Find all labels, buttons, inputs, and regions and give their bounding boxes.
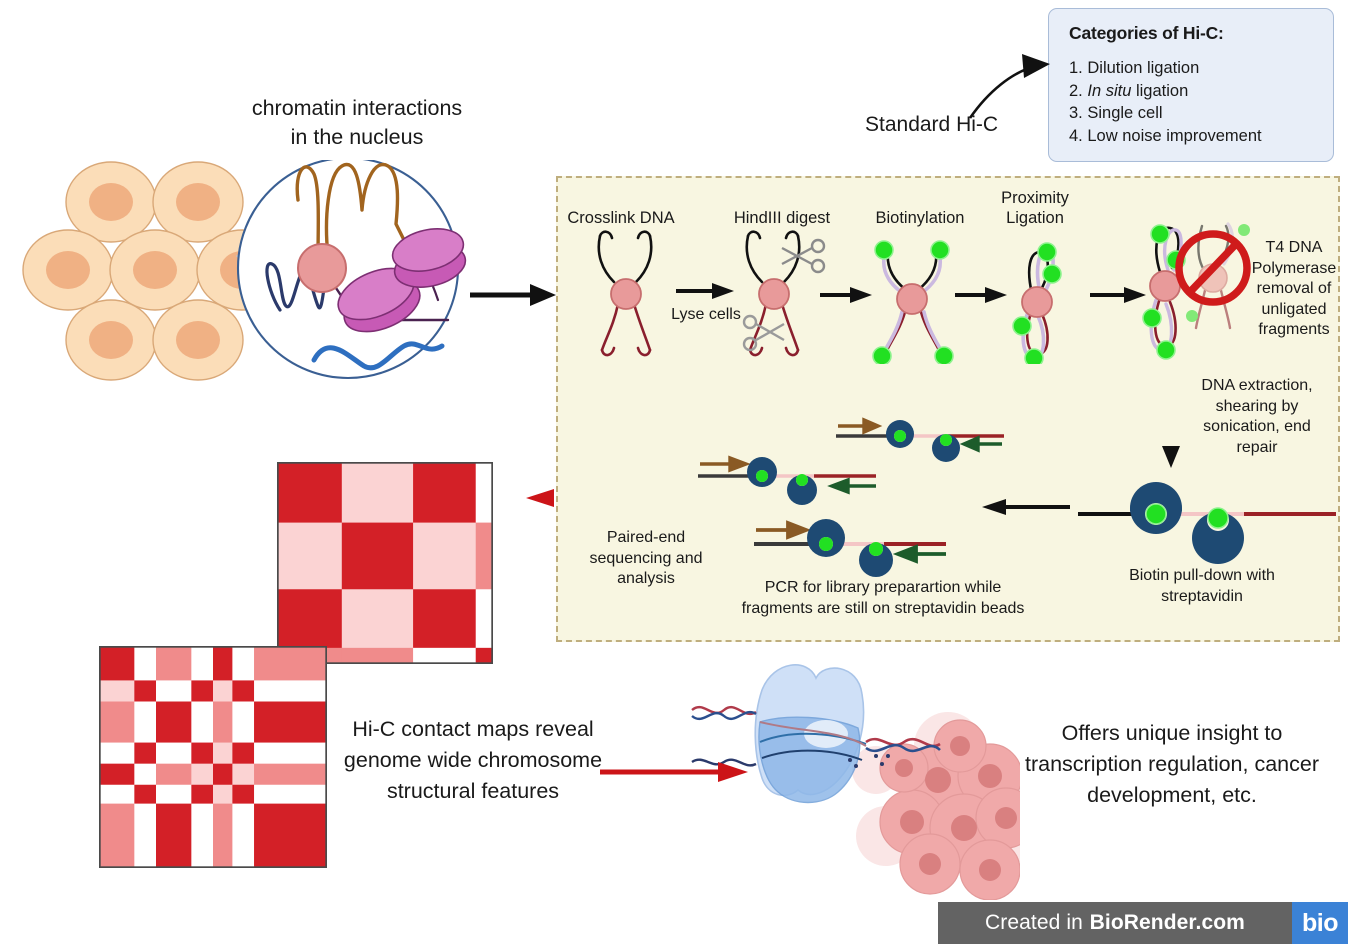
structure-proximity-ligation [1000, 228, 1072, 364]
arrow-lyse-cells [676, 280, 736, 302]
heatmap-cell [342, 462, 414, 523]
heatmap-cell [232, 804, 254, 868]
heatmap-cell [232, 764, 254, 786]
structure-crosslink-dna [588, 228, 674, 360]
heatmap-cell [99, 804, 135, 868]
step-label-biotinylation: Biotinylation [852, 208, 988, 228]
biorender-watermark: Created in BioRender.com bio [938, 902, 1348, 944]
heatmap-cell [232, 680, 254, 702]
biorender-logo: bio [1292, 902, 1348, 944]
heatmap-cell [191, 702, 213, 744]
heatmap-cell [191, 743, 213, 765]
heatmap-cell [213, 702, 233, 744]
structure-biotinylation [866, 228, 966, 364]
heatmap-cell [277, 589, 342, 648]
heatmap-cell [134, 680, 156, 702]
heatmap-cell [476, 462, 493, 523]
heatmap-cell [254, 702, 327, 744]
step-label-hindiii: HindIII digest [712, 208, 852, 228]
cells-and-nucleus-illustration [18, 160, 518, 420]
heatmap-cell [232, 702, 254, 744]
heatmap-cell [476, 589, 493, 648]
pcr-fragment-2 [698, 457, 876, 505]
legend-item-3: 3. Single cell [1069, 102, 1317, 125]
heatmap-cell [213, 785, 233, 804]
arrow-dna-extraction [1158, 370, 1184, 470]
contact-map-back [277, 462, 493, 664]
pcr-fragment-3 [754, 519, 946, 577]
crosslink-protein [298, 244, 346, 292]
contact-map-caption: Hi-C contact maps reveal genome wide chr… [318, 714, 628, 807]
note-t4-polymerase: T4 DNA Polymerase removal of unligated f… [1246, 238, 1342, 341]
scissors-icon-bottom [744, 316, 784, 350]
heatmap-cell [99, 680, 135, 702]
structure-hindiii-digest [736, 228, 832, 360]
heatmap-cell [413, 648, 476, 664]
watermark-prefix: Created in [985, 911, 1083, 935]
pcr-fragment-1 [836, 420, 1004, 462]
heatmap-cell [156, 680, 192, 702]
heatmap-cell [134, 743, 156, 765]
watermark-brand: BioRender.com [1090, 911, 1245, 935]
heatmap-cell [191, 680, 213, 702]
heatmap-cell [134, 785, 156, 804]
step-label-crosslink: Crosslink DNA [551, 208, 691, 228]
structure-biotin-pulldown [1078, 468, 1338, 568]
heatmap-cell [156, 743, 192, 765]
note-paired-end: Paired-end sequencing and analysis [576, 528, 716, 590]
note-biotin-pulldown: Biotin pull-down with streptavidin [1112, 566, 1292, 607]
heatmap-cell [191, 785, 213, 804]
heatmap-cell [99, 764, 135, 786]
note-dna-extraction: DNA extraction, shearing by sonication, … [1192, 376, 1322, 458]
arrow-nucleus-to-workflow [470, 280, 560, 310]
scissors-icon-top [782, 240, 824, 272]
heatmap-cell [413, 523, 476, 590]
heatmap-cell [99, 743, 135, 765]
heatmap-cell [213, 646, 233, 681]
heatmap-cell [213, 764, 233, 786]
heatmap-cell [134, 804, 156, 868]
heatmap-cell [156, 646, 192, 681]
heatmap-cell [342, 589, 414, 648]
heatmap-cell [191, 646, 213, 681]
heatmap-cell [476, 523, 493, 590]
rna-polymerase-complex [755, 665, 866, 803]
heatmap-cell [99, 702, 135, 744]
heatmap-cell [191, 764, 213, 786]
heatmap-cell [254, 764, 327, 786]
step-label-proximity-ligation: Proximity Ligation [990, 188, 1080, 228]
heatmap-cell [213, 743, 233, 765]
heatmap-cell [413, 462, 476, 523]
legend-item-1: 1. Dilution ligation [1069, 57, 1317, 80]
contact-map-front [99, 646, 327, 868]
heatmap-cell [254, 743, 327, 765]
insight-caption: Offers unique insight to transcription r… [1022, 718, 1322, 811]
heatmap-cell [134, 702, 156, 744]
heatmap-cell [99, 646, 135, 681]
heatmap-cell [413, 589, 476, 648]
arrow-to-insight [600, 760, 750, 784]
heatmap-cell [156, 764, 192, 786]
arrow-paired-end-sequencing [520, 486, 720, 510]
heatmap-cell [213, 804, 233, 868]
curved-arrow-to-legend [960, 52, 1060, 122]
note-pcr: PCR for library preparartion while fragm… [738, 578, 1028, 619]
proximity-line2: Ligation [990, 208, 1080, 228]
watermark-text: Created in BioRender.com [938, 902, 1292, 944]
legend-title: Categories of Hi-C: [1069, 23, 1317, 44]
heatmap-cell [254, 680, 327, 702]
legend-item-4: 4. Low noise improvement [1069, 125, 1317, 148]
heatmap-cell [191, 804, 213, 868]
heatmap-cell [156, 804, 192, 868]
page-title: chromatin interactions in the nucleus [192, 94, 522, 152]
heatmap-cell [232, 743, 254, 765]
heatmap-cell [254, 804, 327, 868]
nucleus-circle [238, 160, 470, 378]
heatmap-cell [277, 462, 342, 523]
categories-legend-box: Categories of Hi-C: 1. Dilution ligation… [1048, 8, 1334, 162]
structure-t4-removal [1140, 212, 1260, 362]
heatmap-cell [134, 646, 156, 681]
proximity-line1: Proximity [990, 188, 1080, 208]
heatmap-cell [232, 785, 254, 804]
heatmap-cell [277, 523, 342, 590]
heatmap-cell [232, 646, 254, 681]
heatmap-cell [156, 702, 192, 744]
heatmap-cell [134, 764, 156, 786]
page-title-line2: in the nucleus [192, 123, 522, 152]
heatmap-cell [342, 523, 414, 590]
heatmap-cell [254, 785, 327, 804]
heatmap-cell [99, 785, 135, 804]
legend-item-2: 2. In situ ligation [1069, 80, 1317, 103]
heatmap-cell [254, 646, 327, 681]
heatmap-cell [342, 648, 414, 664]
page-title-line1: chromatin interactions [192, 94, 522, 123]
heatmap-cell [213, 680, 233, 702]
heatmap-cell [156, 785, 192, 804]
heatmap-cell [476, 648, 493, 664]
structure-pcr-fragments [696, 404, 1026, 584]
